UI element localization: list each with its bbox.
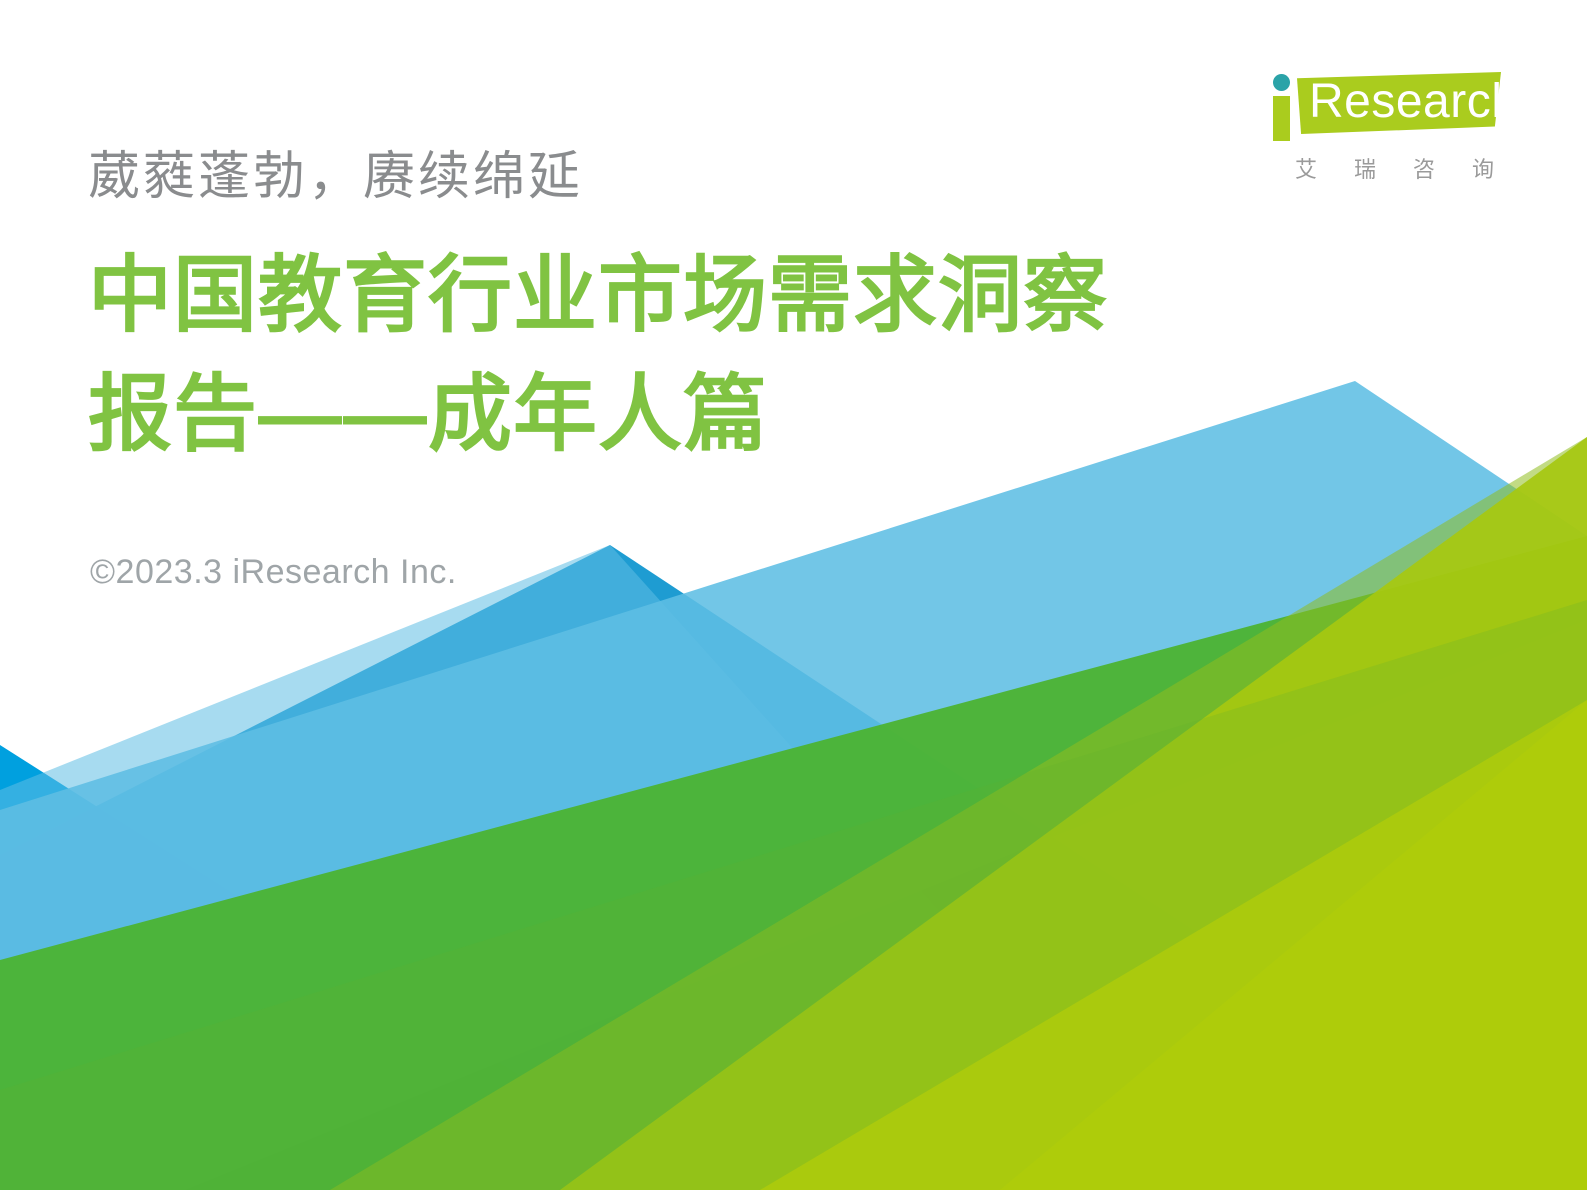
logo-i-stem-icon xyxy=(1273,96,1290,141)
cover-title-line-1: 中国教育行业市场需求洞察 xyxy=(88,236,1288,355)
logo-chinese-name: 艾 瑞 咨 询 xyxy=(1295,152,1495,184)
logo-mark: Research xyxy=(1269,68,1501,148)
cover-title-line-2: 报告——成年人篇 xyxy=(88,355,1288,474)
cover-title: 中国教育行业市场需求洞察 报告——成年人篇 xyxy=(88,236,1288,475)
cover-subtitle: 葳蕤蓬勃，赓续绵延 xyxy=(88,134,583,209)
report-cover-page: Research 艾 瑞 咨 询 葳蕤蓬勃，赓续绵延 中国教育行业市场需求洞察 … xyxy=(0,0,1587,1190)
logo-i-dot-icon xyxy=(1273,74,1290,91)
logo-cn-char-4: 询 xyxy=(1472,152,1495,184)
logo-cn-char-3: 咨 xyxy=(1413,152,1436,184)
logo-wordmark: Research xyxy=(1309,74,1518,129)
copyright-notice: ©2023.3 iResearch Inc. xyxy=(90,553,457,592)
iresearch-logo: Research 艾 瑞 咨 询 xyxy=(1269,68,1501,190)
logo-cn-char-2: 瑞 xyxy=(1354,152,1377,184)
logo-cn-char-1: 艾 xyxy=(1295,152,1318,184)
